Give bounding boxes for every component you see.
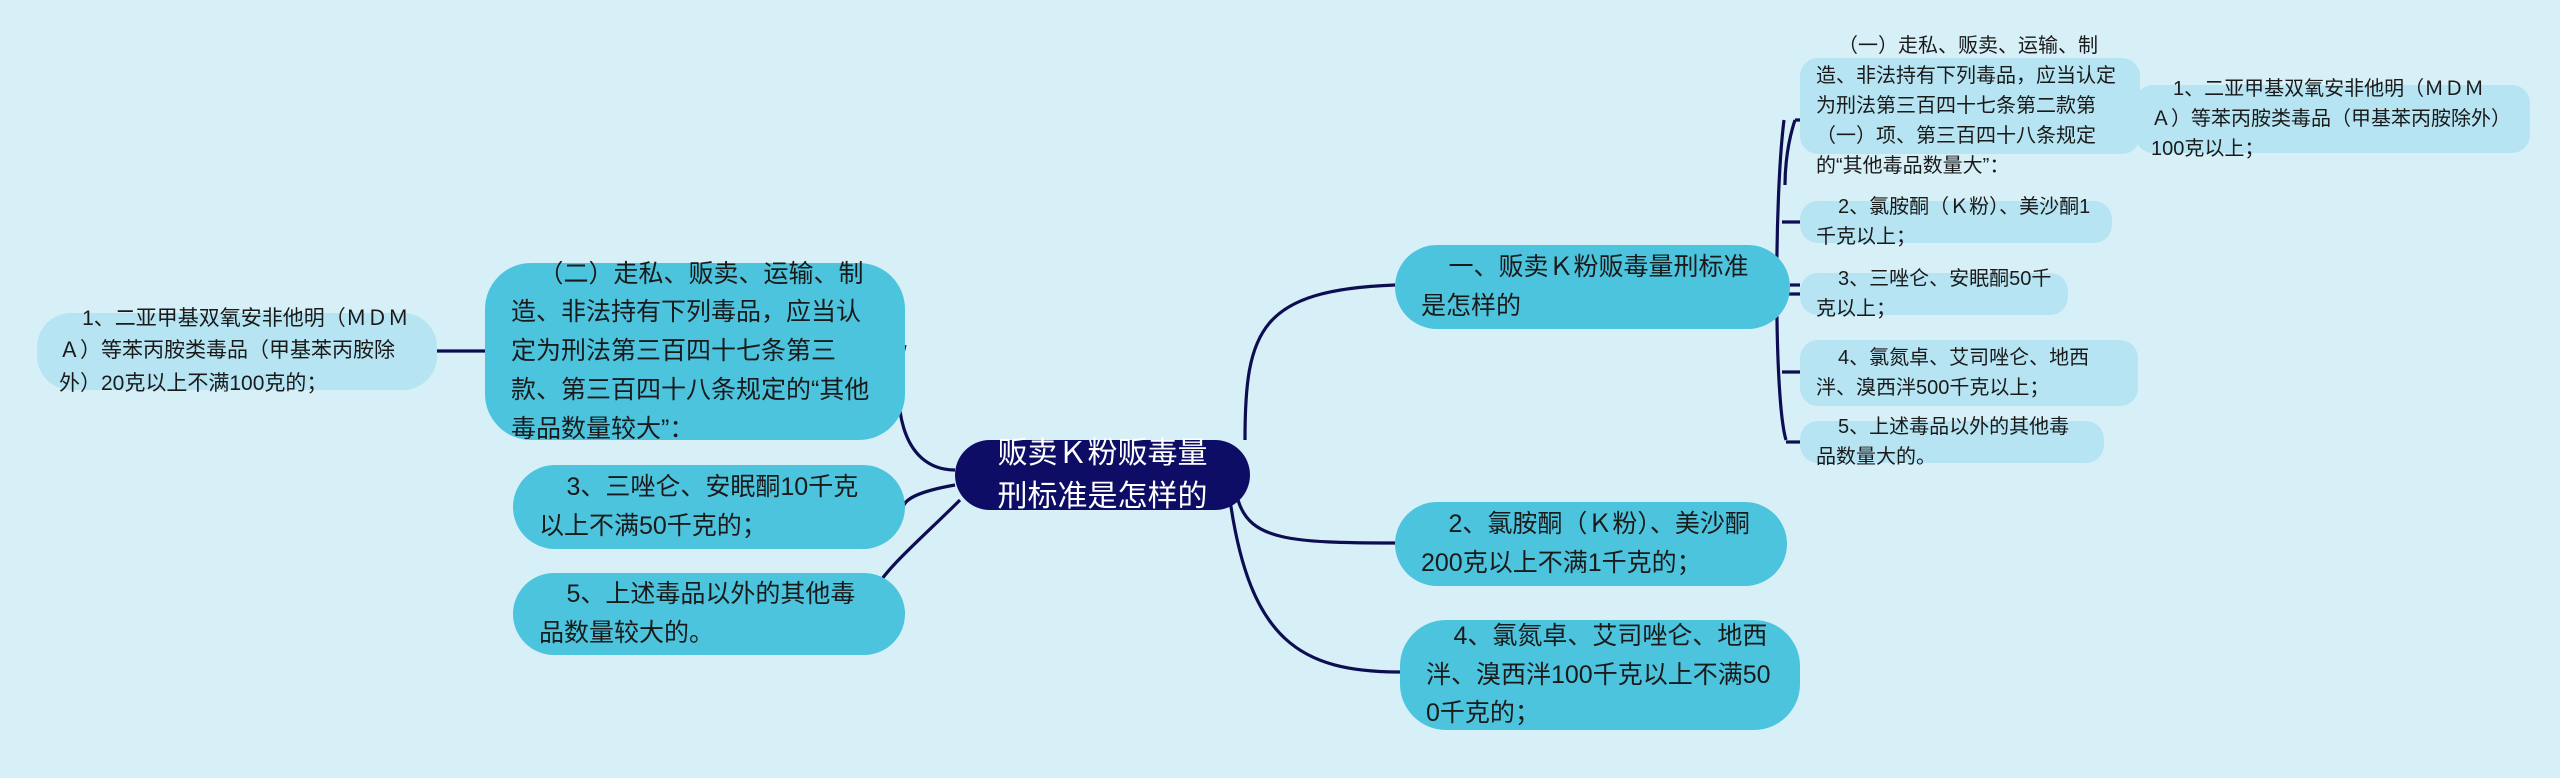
- right-item-3[interactable]: 4、氯氮卓、艾司唑仑、地西泮、溴西泮100千克以上不满500千克的；: [1400, 620, 1800, 730]
- right-subitem-1-label: 1、二亚甲基双氧安非他明（ＭＤＭＡ）等苯丙胺类毒品（甲基苯丙胺除外）100克以上…: [2151, 74, 2514, 164]
- right-subitem-2-label: 2、氯胺酮（Ｋ粉）、美沙酮1千克以上；: [1816, 192, 2096, 252]
- left-branch-child-1[interactable]: 1、二亚甲基双氧安非他明（ＭＤＭＡ）等苯丙胺类毒品（甲基苯丙胺除外）20克以上不…: [37, 313, 437, 390]
- link-root-left-branch: [899, 345, 955, 470]
- left-branch-child-1-label: 1、二亚甲基双氧安非他明（ＭＤＭＡ）等苯丙胺类毒品（甲基苯丙胺除外）20克以上不…: [59, 303, 415, 401]
- left-branch-label: （二）走私、贩卖、运输、制造、非法持有下列毒品，应当认定为刑法第三百四十七条第三…: [511, 255, 879, 449]
- left-sibling-3[interactable]: 3、三唑仑、安眠酮10千克以上不满50千克的；: [513, 465, 905, 549]
- link-root-right-2: [1238, 500, 1395, 543]
- link-root-right-3: [1230, 500, 1400, 672]
- right-item-1[interactable]: 一、贩卖Ｋ粉贩毒量刑标准是怎样的: [1395, 245, 1790, 329]
- right-item-3-label: 4、氯氮卓、艾司唑仑、地西泮、溴西泮100千克以上不满500千克的；: [1426, 617, 1774, 733]
- right-item-2-label: 2、氯胺酮（Ｋ粉）、美沙酮200克以上不满1千克的；: [1421, 505, 1761, 583]
- left-sibling-5[interactable]: 5、上述毒品以外的其他毒品数量较大的。: [513, 573, 905, 655]
- link-root-right-1: [1245, 285, 1395, 440]
- left-sibling-5-label: 5、上述毒品以外的其他毒品数量较大的。: [539, 575, 879, 653]
- root-node[interactable]: 贩卖Ｋ粉贩毒量刑标准是怎样的: [955, 440, 1250, 510]
- right-subitem-2[interactable]: 2、氯胺酮（Ｋ粉）、美沙酮1千克以上；: [1800, 201, 2112, 243]
- right-subbranch-header-label: （一）走私、贩卖、运输、制造、非法持有下列毒品，应当认定为刑法第三百四十七条第二…: [1816, 31, 2124, 181]
- right-subitem-5-label: 5、上述毒品以外的其他毒品数量大的。: [1816, 412, 2088, 472]
- right-subitem-5[interactable]: 5、上述毒品以外的其他毒品数量大的。: [1800, 421, 2104, 463]
- right-item-2[interactable]: 2、氯胺酮（Ｋ粉）、美沙酮200克以上不满1千克的；: [1395, 502, 1787, 586]
- right-subitem-3[interactable]: 3、三唑仑、安眠酮50千克以上；: [1800, 273, 2068, 315]
- right-subitem-3-label: 3、三唑仑、安眠酮50千克以上；: [1816, 264, 2052, 324]
- link-subheader-trunk: [1785, 120, 1795, 185]
- mindmap-canvas: 贩卖Ｋ粉贩毒量刑标准是怎样的 （二）走私、贩卖、运输、制造、非法持有下列毒品，应…: [0, 0, 2560, 778]
- link-root-left-3: [903, 485, 955, 507]
- right-subitem-4-label: 4、氯氮卓、艾司唑仑、地西泮、溴西泮500千克以上；: [1816, 343, 2122, 403]
- left-sibling-3-label: 3、三唑仑、安眠酮10千克以上不满50千克的；: [539, 468, 879, 546]
- right-subitem-4[interactable]: 4、氯氮卓、艾司唑仑、地西泮、溴西泮500千克以上；: [1800, 340, 2138, 406]
- right-subitem-1[interactable]: 1、二亚甲基双氧安非他明（ＭＤＭＡ）等苯丙胺类毒品（甲基苯丙胺除外）100克以上…: [2135, 85, 2530, 153]
- right-item-1-label: 一、贩卖Ｋ粉贩毒量刑标准是怎样的: [1421, 248, 1764, 326]
- right-subbranch-header[interactable]: （一）走私、贩卖、运输、制造、非法持有下列毒品，应当认定为刑法第三百四十七条第二…: [1800, 58, 2140, 154]
- left-branch-node[interactable]: （二）走私、贩卖、运输、制造、非法持有下列毒品，应当认定为刑法第三百四十七条第三…: [485, 263, 905, 440]
- root-node-label: 贩卖Ｋ粉贩毒量刑标准是怎样的: [989, 432, 1216, 519]
